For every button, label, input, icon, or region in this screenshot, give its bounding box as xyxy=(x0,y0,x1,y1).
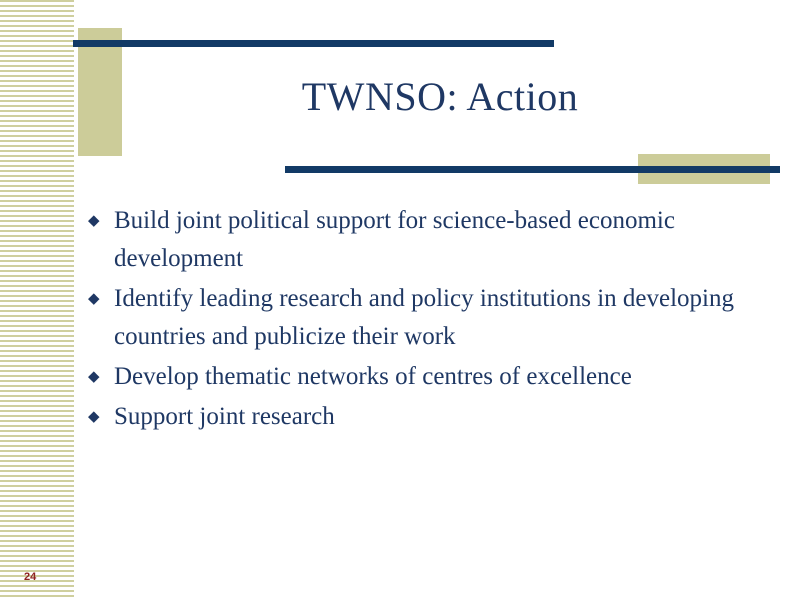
page-number: 24 xyxy=(24,571,36,583)
olive-accent-block-left xyxy=(78,28,122,156)
diamond-bullet-icon: ◆ xyxy=(88,398,100,436)
list-item-text: Build joint political support for scienc… xyxy=(114,202,778,278)
diamond-bullet-icon: ◆ xyxy=(88,358,100,396)
slide-title: TWNSO: Action xyxy=(140,74,740,120)
bullet-list: ◆ Build joint political support for scie… xyxy=(88,202,778,438)
navy-rule-bottom xyxy=(285,166,780,173)
striped-sidebar-decoration xyxy=(0,0,74,600)
navy-rule-top xyxy=(73,40,554,47)
list-item: ◆ Build joint political support for scie… xyxy=(88,202,778,278)
diamond-bullet-icon: ◆ xyxy=(88,202,100,240)
list-item: ◆ Identify leading research and policy i… xyxy=(88,280,778,356)
list-item-text: Identify leading research and policy ins… xyxy=(114,280,778,356)
list-item: ◆ Support joint research xyxy=(88,398,778,436)
list-item: ◆ Develop thematic networks of centres o… xyxy=(88,358,778,396)
presentation-slide: TWNSO: Action ◆ Build joint political su… xyxy=(0,0,800,600)
diamond-bullet-icon: ◆ xyxy=(88,280,100,318)
list-item-text: Develop thematic networks of centres of … xyxy=(114,358,778,396)
list-item-text: Support joint research xyxy=(114,398,778,436)
